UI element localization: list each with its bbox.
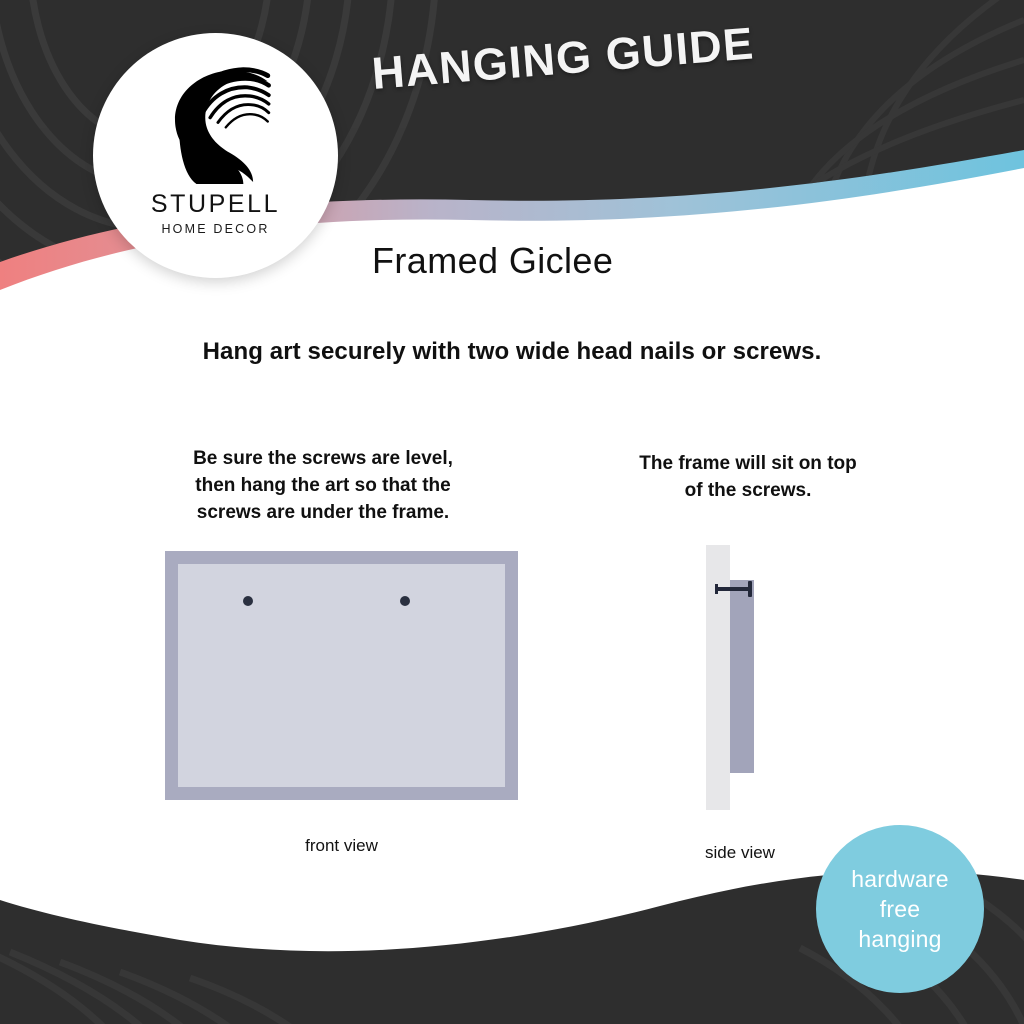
front-view-label: front view — [165, 836, 518, 856]
hardware-free-hanging-badge: hardware free hanging — [816, 825, 984, 993]
badge-line: hanging — [858, 924, 941, 954]
hanging-guide-page: STUPELL HOME DECOR HANGING GUIDE Framed … — [0, 0, 1024, 1024]
badge-line: free — [880, 894, 920, 924]
caption-line: of the screws. — [598, 477, 898, 504]
front-view-art-panel — [178, 564, 505, 787]
caption-line: Be sure the screws are level, — [168, 445, 478, 472]
front-view-caption: Be sure the screws are level, then hang … — [168, 445, 478, 526]
side-view-diagram — [706, 545, 776, 810]
front-view-diagram — [165, 551, 518, 800]
nail-head-icon — [748, 581, 752, 597]
badge-line: hardware — [851, 864, 949, 894]
side-view-label: side view — [650, 843, 830, 863]
caption-line: then hang the art so that the — [168, 472, 478, 499]
logo-subwordmark: HOME DECOR — [161, 222, 269, 236]
screw-dot-left — [243, 596, 253, 606]
caption-line: The frame will sit on top — [598, 450, 898, 477]
product-name: Framed Giclee — [372, 240, 613, 282]
caption-line: screws are under the frame. — [168, 499, 478, 526]
side-view-caption: The frame will sit on top of the screws. — [598, 450, 898, 504]
side-view-wall — [706, 545, 730, 810]
page-title: HANGING GUIDE — [370, 6, 892, 100]
main-instruction: Hang art securely with two wide head nai… — [0, 338, 1024, 366]
brand-logo-badge: STUPELL HOME DECOR — [93, 33, 338, 278]
screw-dot-right — [400, 596, 410, 606]
side-view-frame — [730, 580, 754, 773]
stupell-swoosh-icon — [157, 59, 275, 184]
nail-shaft-icon — [717, 587, 752, 591]
logo-wordmark: STUPELL — [151, 190, 280, 219]
